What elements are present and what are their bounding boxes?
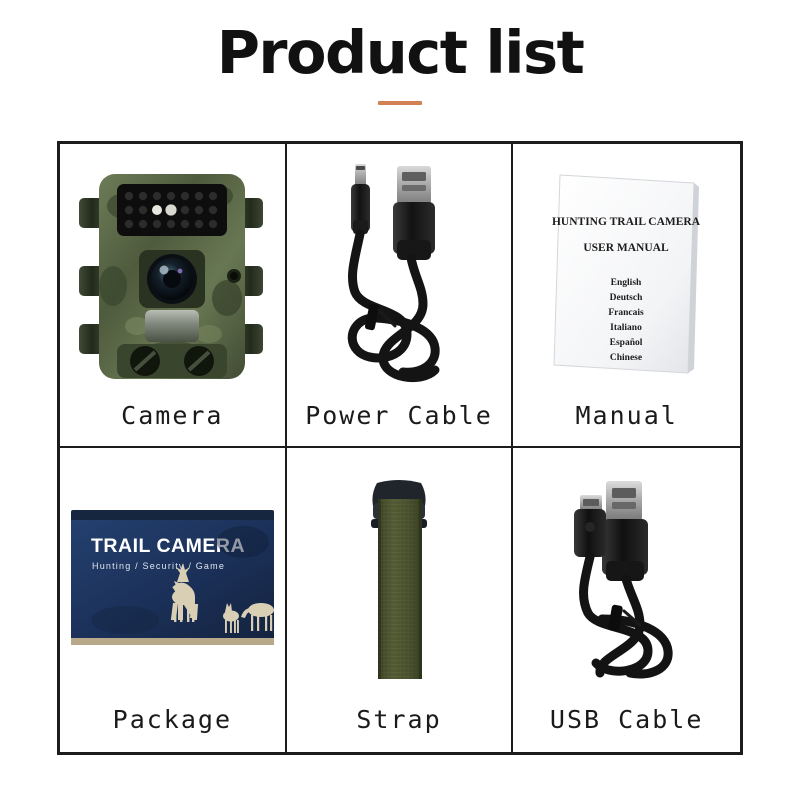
product-caption-manual: Manual: [576, 401, 678, 446]
svg-text:Español: Español: [610, 338, 643, 348]
usb-cable-illustration: [544, 477, 709, 682]
page-header: Product list: [0, 0, 800, 141]
camera-artwork: [60, 144, 285, 401]
product-cell-strap[interactable]: Strap: [287, 448, 514, 752]
strap-artwork: [287, 448, 512, 705]
svg-text:English: English: [611, 278, 642, 288]
page-title: Product list: [217, 22, 584, 84]
title-accent-rule: [378, 101, 422, 105]
package-tagline: Hunting / Security / Game: [92, 561, 225, 571]
manual-artwork: HUNTING TRAIL CAMERA USER MANUAL English…: [513, 144, 740, 401]
package-artwork: TRAIL CAMERA Hunting / Security / Game: [60, 448, 285, 705]
product-cell-power-cable[interactable]: Power Cable: [287, 144, 514, 448]
product-caption-package: Package: [113, 705, 232, 752]
product-caption-usb-cable: USB Cable: [550, 705, 703, 752]
product-list-page: Product list: [0, 0, 800, 800]
svg-text:Deutsch: Deutsch: [610, 293, 643, 303]
product-caption-strap: Strap: [356, 705, 441, 752]
user-manual-illustration: HUNTING TRAIL CAMERA USER MANUAL English…: [544, 163, 709, 388]
mounting-strap-illustration: [359, 477, 439, 682]
usb-cable-artwork: [513, 448, 740, 705]
power-cable-illustration: [311, 158, 486, 393]
retail-box-illustration: TRAIL CAMERA Hunting / Security / Game: [65, 500, 280, 660]
product-cell-usb-cable[interactable]: USB Cable: [513, 448, 740, 752]
power-cable-artwork: [287, 144, 512, 401]
product-caption-camera: Camera: [121, 401, 223, 446]
manual-subheading: USER MANUAL: [584, 242, 670, 254]
trail-camera-illustration: [77, 158, 267, 393]
svg-text:Chinese: Chinese: [610, 353, 642, 363]
product-cell-camera[interactable]: Camera: [60, 144, 287, 448]
manual-heading: HUNTING TRAIL CAMERA: [552, 216, 701, 228]
product-cell-package[interactable]: TRAIL CAMERA Hunting / Security / Game: [60, 448, 287, 752]
svg-text:Francais: Francais: [608, 308, 644, 318]
product-grid: Camera: [57, 141, 743, 755]
svg-text:Italiano: Italiano: [610, 323, 642, 333]
product-cell-manual[interactable]: HUNTING TRAIL CAMERA USER MANUAL English…: [513, 144, 740, 448]
product-caption-power-cable: Power Cable: [305, 401, 493, 446]
